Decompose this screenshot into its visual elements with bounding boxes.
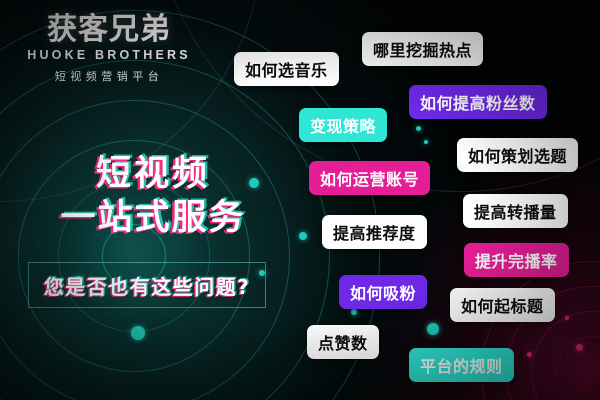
logo-name-en: HUOKE BROTHERS bbox=[24, 48, 194, 62]
background-node-dot bbox=[131, 326, 145, 340]
keyword-tag[interactable]: 变现策略 bbox=[299, 108, 387, 142]
poster-canvas: 获客兄弟 HUOKE BROTHERS 短视频营销平台 短视频 一站式服务 您是… bbox=[0, 0, 600, 400]
keyword-tag[interactable]: 如何策划选题 bbox=[457, 138, 578, 172]
question-box: 您是否也有这些问题? bbox=[28, 262, 266, 308]
background-node-dot bbox=[416, 126, 421, 131]
keyword-tag[interactable]: 哪里挖掘热点 bbox=[362, 32, 483, 66]
logo-tagline: 短视频营销平台 bbox=[24, 68, 194, 84]
keyword-tag[interactable]: 如何选音乐 bbox=[234, 52, 339, 86]
logo-name-cn: 获客兄弟 bbox=[24, 14, 194, 46]
background-node-dot bbox=[427, 323, 439, 335]
background-node-dot bbox=[351, 309, 357, 315]
headline-line-2: 一站式服务 bbox=[28, 196, 278, 240]
keyword-tag[interactable]: 如何运营账号 bbox=[309, 161, 430, 195]
background-node-dot-crimson bbox=[565, 316, 569, 320]
keyword-tag[interactable]: 如何起标题 bbox=[450, 288, 555, 322]
keyword-tag[interactable]: 平台的规则 bbox=[409, 348, 514, 382]
question-box-label: 您是否也有这些问题? bbox=[44, 271, 251, 300]
keyword-tag[interactable]: 如何吸粉 bbox=[339, 275, 427, 309]
keyword-tag[interactable]: 点赞数 bbox=[307, 325, 379, 359]
keyword-tag[interactable]: 如何提高粉丝数 bbox=[409, 85, 547, 119]
background-node-dot-crimson bbox=[527, 352, 532, 357]
headline-line-1: 短视频 bbox=[28, 152, 278, 196]
background-node-dot bbox=[424, 140, 428, 144]
background-node-dot bbox=[299, 232, 307, 240]
background-node-dot-crimson bbox=[576, 344, 583, 351]
brand-logo: 获客兄弟 HUOKE BROTHERS 短视频营销平台 bbox=[24, 14, 194, 84]
keyword-tag[interactable]: 提高推荐度 bbox=[322, 215, 427, 249]
keyword-tag[interactable]: 提高转播量 bbox=[463, 194, 568, 228]
keyword-tag[interactable]: 提升完播率 bbox=[464, 243, 569, 277]
headline-block: 短视频 一站式服务 bbox=[28, 152, 278, 240]
